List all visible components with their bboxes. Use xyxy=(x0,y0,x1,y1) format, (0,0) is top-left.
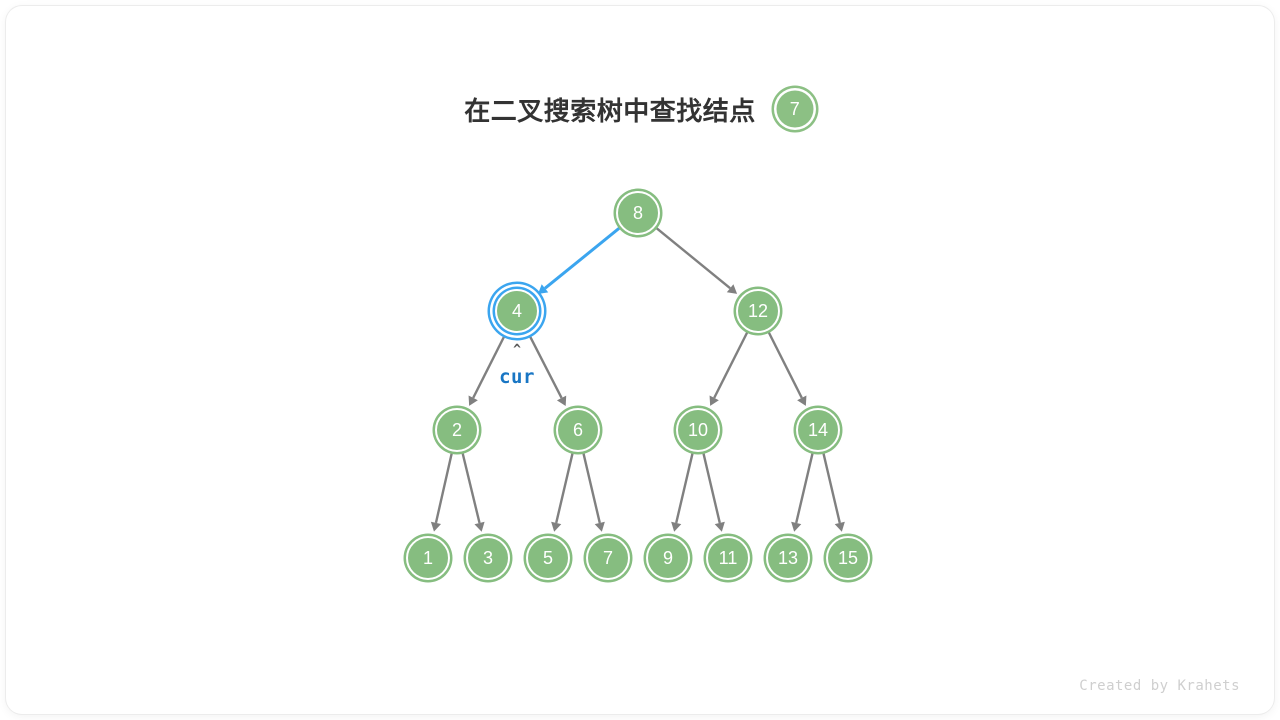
tree-edge-arrowhead xyxy=(474,522,484,532)
tree-edge xyxy=(768,331,802,398)
tree-edge-arrowhead xyxy=(671,522,681,532)
tree-node-1: 1 xyxy=(406,536,450,580)
page-title: 在二叉搜索树中查找结点 xyxy=(464,91,756,128)
illustration-card: 841226101413579111315 ^ cur 在二叉搜索树中查找结点 … xyxy=(6,6,1274,714)
tree-edge xyxy=(655,227,730,288)
tree-edge xyxy=(676,451,693,523)
tree-edge xyxy=(796,451,813,523)
edge-layer xyxy=(431,227,845,532)
tree-node-2: 2 xyxy=(435,408,479,452)
tree-edge-arrowhead xyxy=(595,522,605,532)
tree-edge xyxy=(583,451,600,523)
tree-node-4: 4 xyxy=(495,289,539,333)
tree-edge xyxy=(462,451,479,523)
tree-edge xyxy=(823,451,840,523)
tree-edge-arrowhead xyxy=(835,522,845,532)
cur-caret-icon: ^ xyxy=(513,343,521,358)
tree-node-5: 5 xyxy=(526,536,570,580)
tree-edge xyxy=(556,451,573,523)
tree-node-10: 10 xyxy=(676,408,720,452)
credit-footer: Created by Krahets xyxy=(1079,678,1240,694)
tree-node-8: 8 xyxy=(616,191,660,235)
tree-edge-arrowhead xyxy=(715,522,725,532)
tree-node-13: 13 xyxy=(766,536,810,580)
tree-edge xyxy=(703,451,720,523)
cur-pointer-label: cur xyxy=(499,366,535,388)
tree-node-15: 15 xyxy=(826,536,870,580)
tree-node-3: 3 xyxy=(466,536,510,580)
tree-edge-arrowhead xyxy=(791,522,801,532)
tree-edge xyxy=(545,227,621,288)
tree-node-11: 11 xyxy=(706,536,750,580)
tree-node-12: 12 xyxy=(736,289,780,333)
tree-node-7: 7 xyxy=(586,536,630,580)
tree-edge-arrowhead xyxy=(431,522,441,532)
tree-node-6: 6 xyxy=(556,408,600,452)
title-row: 在二叉搜索树中查找结点 7 xyxy=(6,88,1274,130)
tree-edge xyxy=(714,331,748,398)
tree-node-9: 9 xyxy=(646,536,690,580)
tree-node-14: 14 xyxy=(796,408,840,452)
tree-edge-arrowhead xyxy=(551,522,561,532)
step-badge: 7 xyxy=(774,88,816,130)
tree-edge xyxy=(436,451,452,522)
